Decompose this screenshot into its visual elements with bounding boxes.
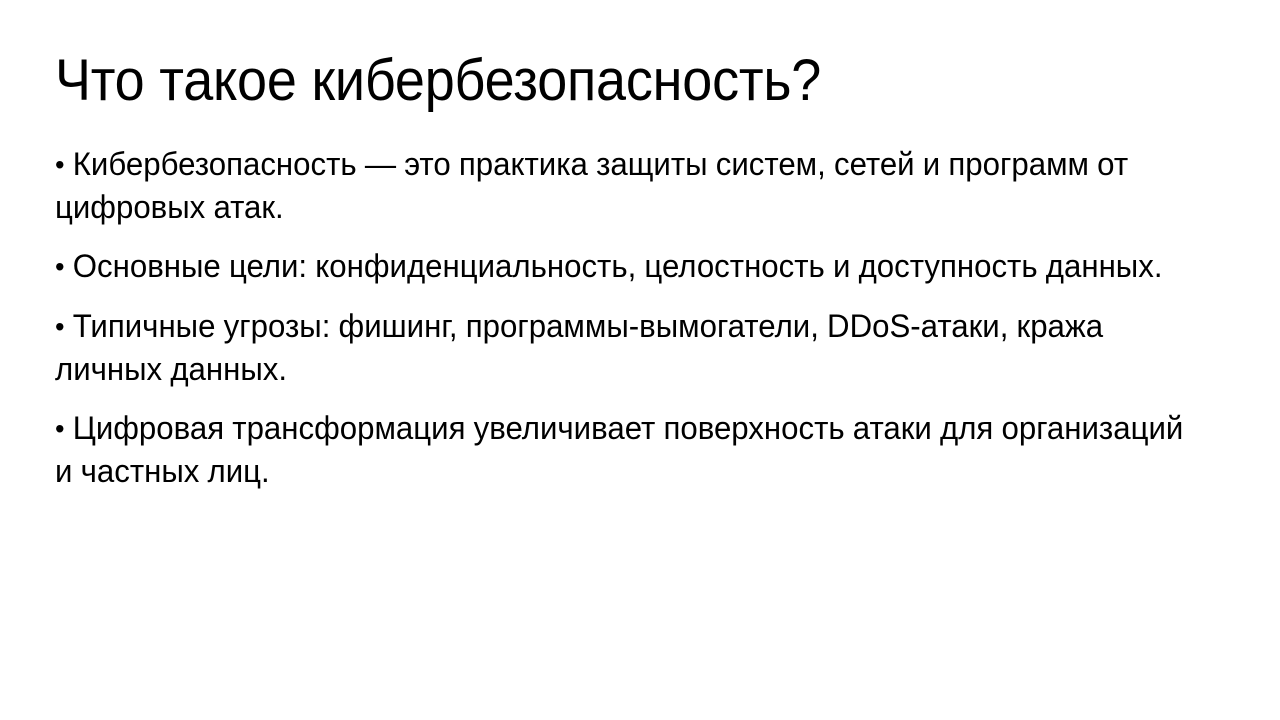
bullet-point-icon: • [55,413,65,444]
slide-body-content: • Кибербезопасность — это практика защит… [55,143,1223,492]
bullet-point-icon: • [55,149,65,180]
bullet-list-item: • Кибербезопасность — это практика защит… [55,143,1194,228]
bullet-list-item: • Цифровая трансформация увеличивает пов… [55,407,1194,492]
bullet-point-icon: • [55,311,65,342]
bullet-item-text: Основные цели: конфиденциальность, целос… [73,248,1163,284]
bullet-list-item: • Основные цели: конфиденциальность, цел… [55,245,1194,288]
presentation-slide: Что такое кибербезопасность? • Кибербезо… [0,0,1280,720]
slide-title: Что такое кибербезопасность? [55,46,1143,116]
bullet-item-text: Типичные угрозы: фишинг, программы-вымог… [55,308,1103,387]
bullet-item-text: Цифровая трансформация увеличивает повер… [55,410,1183,489]
bullet-point-icon: • [55,251,65,282]
bullet-item-text: Кибербезопасность — это практика защиты … [55,146,1128,225]
bullet-list-item: • Типичные угрозы: фишинг, программы-вым… [55,305,1194,390]
